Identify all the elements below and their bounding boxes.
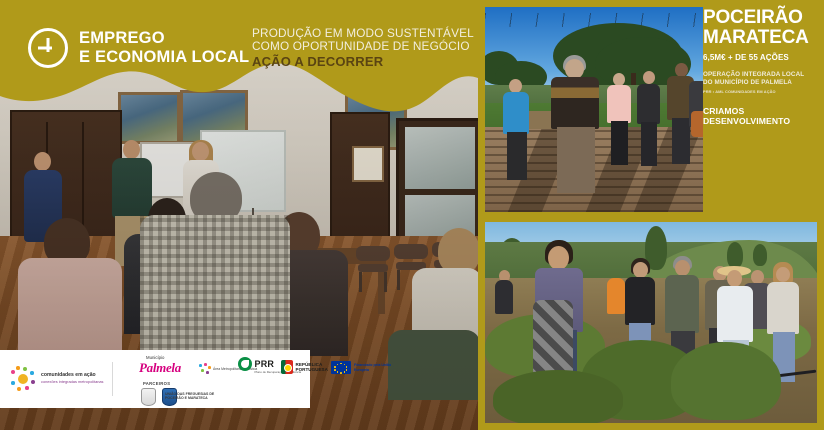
brand-text: EMPREGO E ECONOMIA LOCAL <box>79 29 249 67</box>
budget-amount: 6,5M€ + DE 55 AÇÕES <box>703 53 819 62</box>
top-right-photo <box>485 7 703 212</box>
municipality-name: Palmela <box>139 360 181 375</box>
republic-line-2: PORTUGUESA <box>296 367 328 372</box>
republica-portuguesa-logo: REPÚBLICA PORTUGUESA <box>281 360 328 374</box>
funders-line: PRR • AML COMUNIDADES EM AÇÃO <box>703 89 819 94</box>
right-panel: POCEIRÃO MARATECA 6,5M€ + DE 55 AÇÕES OP… <box>478 0 824 430</box>
comunidades-em-acao-logo: comunidades em ação conexões integradas … <box>0 366 112 392</box>
brand-lockup: EMPREGO E ECONOMIA LOCAL <box>28 28 249 68</box>
dots-icon <box>199 363 211 375</box>
burst-icon <box>10 366 36 392</box>
cta-line-2: DESENVOLVIMENTO <box>703 116 819 126</box>
prr-name: PRR <box>255 359 275 369</box>
headline-line-1: PRODUÇÃO EM MODO SUSTENTÁVEL <box>252 27 478 40</box>
cea-title: comunidades em ação <box>41 372 96 378</box>
comunidades-text: comunidades em ação conexões integradas … <box>41 372 104 385</box>
cta-line-1: CRIAMOS <box>703 106 819 116</box>
brand-line-2: E ECONOMIA LOCAL <box>79 48 249 67</box>
cea-subtitle: conexões integradas metropolitanas <box>41 379 104 385</box>
eu-funding-logo: Financiado pela União Europeia <box>331 361 394 374</box>
eu-flag-icon <box>331 361 351 374</box>
pine-tree <box>753 244 767 266</box>
headline-block: PRODUÇÃO EM MODO SUSTENTÁVEL COMO OPORTU… <box>252 27 478 69</box>
portugal-flag-icon <box>281 360 293 374</box>
left-panel: EMPREGO E ECONOMIA LOCAL PRODUÇÃO EM MOD… <box>0 0 478 430</box>
eu-funding-label: Financiado pela União Europeia <box>354 363 394 371</box>
union-parishes-label: UNIÃO DAS FREGUESIAS DE POCEIRÃO E MARAT… <box>165 392 219 401</box>
plus-circle-icon <box>28 28 68 68</box>
palmela-municipality-logo: Município Palmela <box>139 356 181 376</box>
status-badge: AÇÃO A DECORRER <box>252 54 478 69</box>
shield-icon <box>141 388 156 406</box>
partner-logo-strip: comunidades em ação conexões integradas … <box>0 350 310 408</box>
pine-tree <box>727 242 743 268</box>
operation-line-1: OPERAÇÃO INTEGRADA LOCAL <box>703 71 819 79</box>
operation-line-2: DO MUNICÍPIO DE PALMELA <box>703 79 819 87</box>
poster-canvas: EMPREGO E ECONOMIA LOCAL PRODUÇÃO EM MOD… <box>0 0 824 430</box>
leaf-icon <box>238 357 252 371</box>
brand-line-1: EMPREGO <box>79 29 249 48</box>
vegetation <box>671 342 781 420</box>
partners-label: PARCEIROS <box>143 381 170 386</box>
bottom-right-photo <box>485 222 817 423</box>
vegetation <box>493 370 623 423</box>
right-text-block: POCEIRÃO MARATECA 6,5M€ + DE 55 AÇÕES OP… <box>703 8 819 126</box>
project-title-line-2: MARATECA <box>703 28 819 48</box>
project-title-line-1: POCEIRÃO <box>703 8 819 28</box>
institutional-logos: PARCEIROS UNIÃO DAS FREGUESIAS DE POCEIR… <box>113 377 310 381</box>
headline-line-2: COMO OPORTUNIDADE DE NEGÓCIO <box>252 40 478 53</box>
